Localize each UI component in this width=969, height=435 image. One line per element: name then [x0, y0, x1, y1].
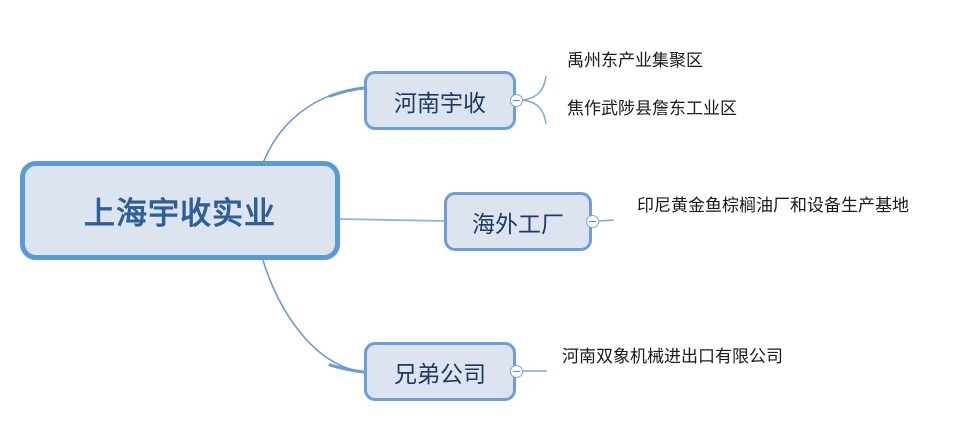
collapse-minus-icon[interactable] [586, 215, 599, 228]
connector-root-to-branch-1-thick [330, 88, 364, 96]
connector-root-to-branch-3-thick [330, 365, 364, 372]
leaf-node[interactable]: 河南双象机械进出口有限公司 [545, 334, 838, 372]
connector-toggle-1-to-leaf-2 [523, 100, 546, 124]
branch-node-brother-company[interactable]: 兄弟公司 [364, 342, 516, 401]
collapse-minus-icon[interactable] [510, 94, 523, 107]
collapse-minus-icon[interactable] [510, 365, 523, 378]
connector-root-to-branch-2 [340, 219, 444, 221]
connector-root-to-branch-1 [262, 88, 364, 166]
leaf-node[interactable]: 印尼黄金鱼棕榈油厂和设备生产基地 [612, 183, 969, 221]
leaf-node-label: 印尼黄金鱼棕榈油厂和设备生产基地 [637, 191, 909, 216]
connector-root-to-branch-3 [262, 257, 364, 372]
connector-toggle-1-to-leaf-1 [523, 76, 546, 100]
leaf-node-label: 河南双象机械进出口有限公司 [562, 342, 783, 367]
leaf-node-label: 焦作武陟县詹东工业区 [567, 94, 737, 119]
mind-map-canvas: 上海宇收实业 河南宇收 海外工厂 兄弟公司 禹州东产业集聚区 焦作武陟县詹东工业… [0, 0, 969, 435]
root-node-label: 上海宇收实业 [84, 188, 276, 233]
branch-node-overseas-factory[interactable]: 海外工厂 [444, 192, 592, 251]
leaf-node[interactable]: 禹州东产业集聚区 [545, 40, 780, 76]
branch-node-label: 兄弟公司 [394, 355, 486, 389]
leaf-node-label: 禹州东产业集聚区 [567, 46, 703, 71]
branch-node-label: 河南宇收 [394, 84, 486, 118]
leaf-node[interactable]: 焦作武陟县詹东工业区 [545, 88, 790, 124]
branch-node-henan-yushou[interactable]: 河南宇收 [364, 71, 516, 130]
root-node[interactable]: 上海宇收实业 [20, 161, 340, 260]
branch-node-label: 海外工厂 [472, 205, 564, 239]
